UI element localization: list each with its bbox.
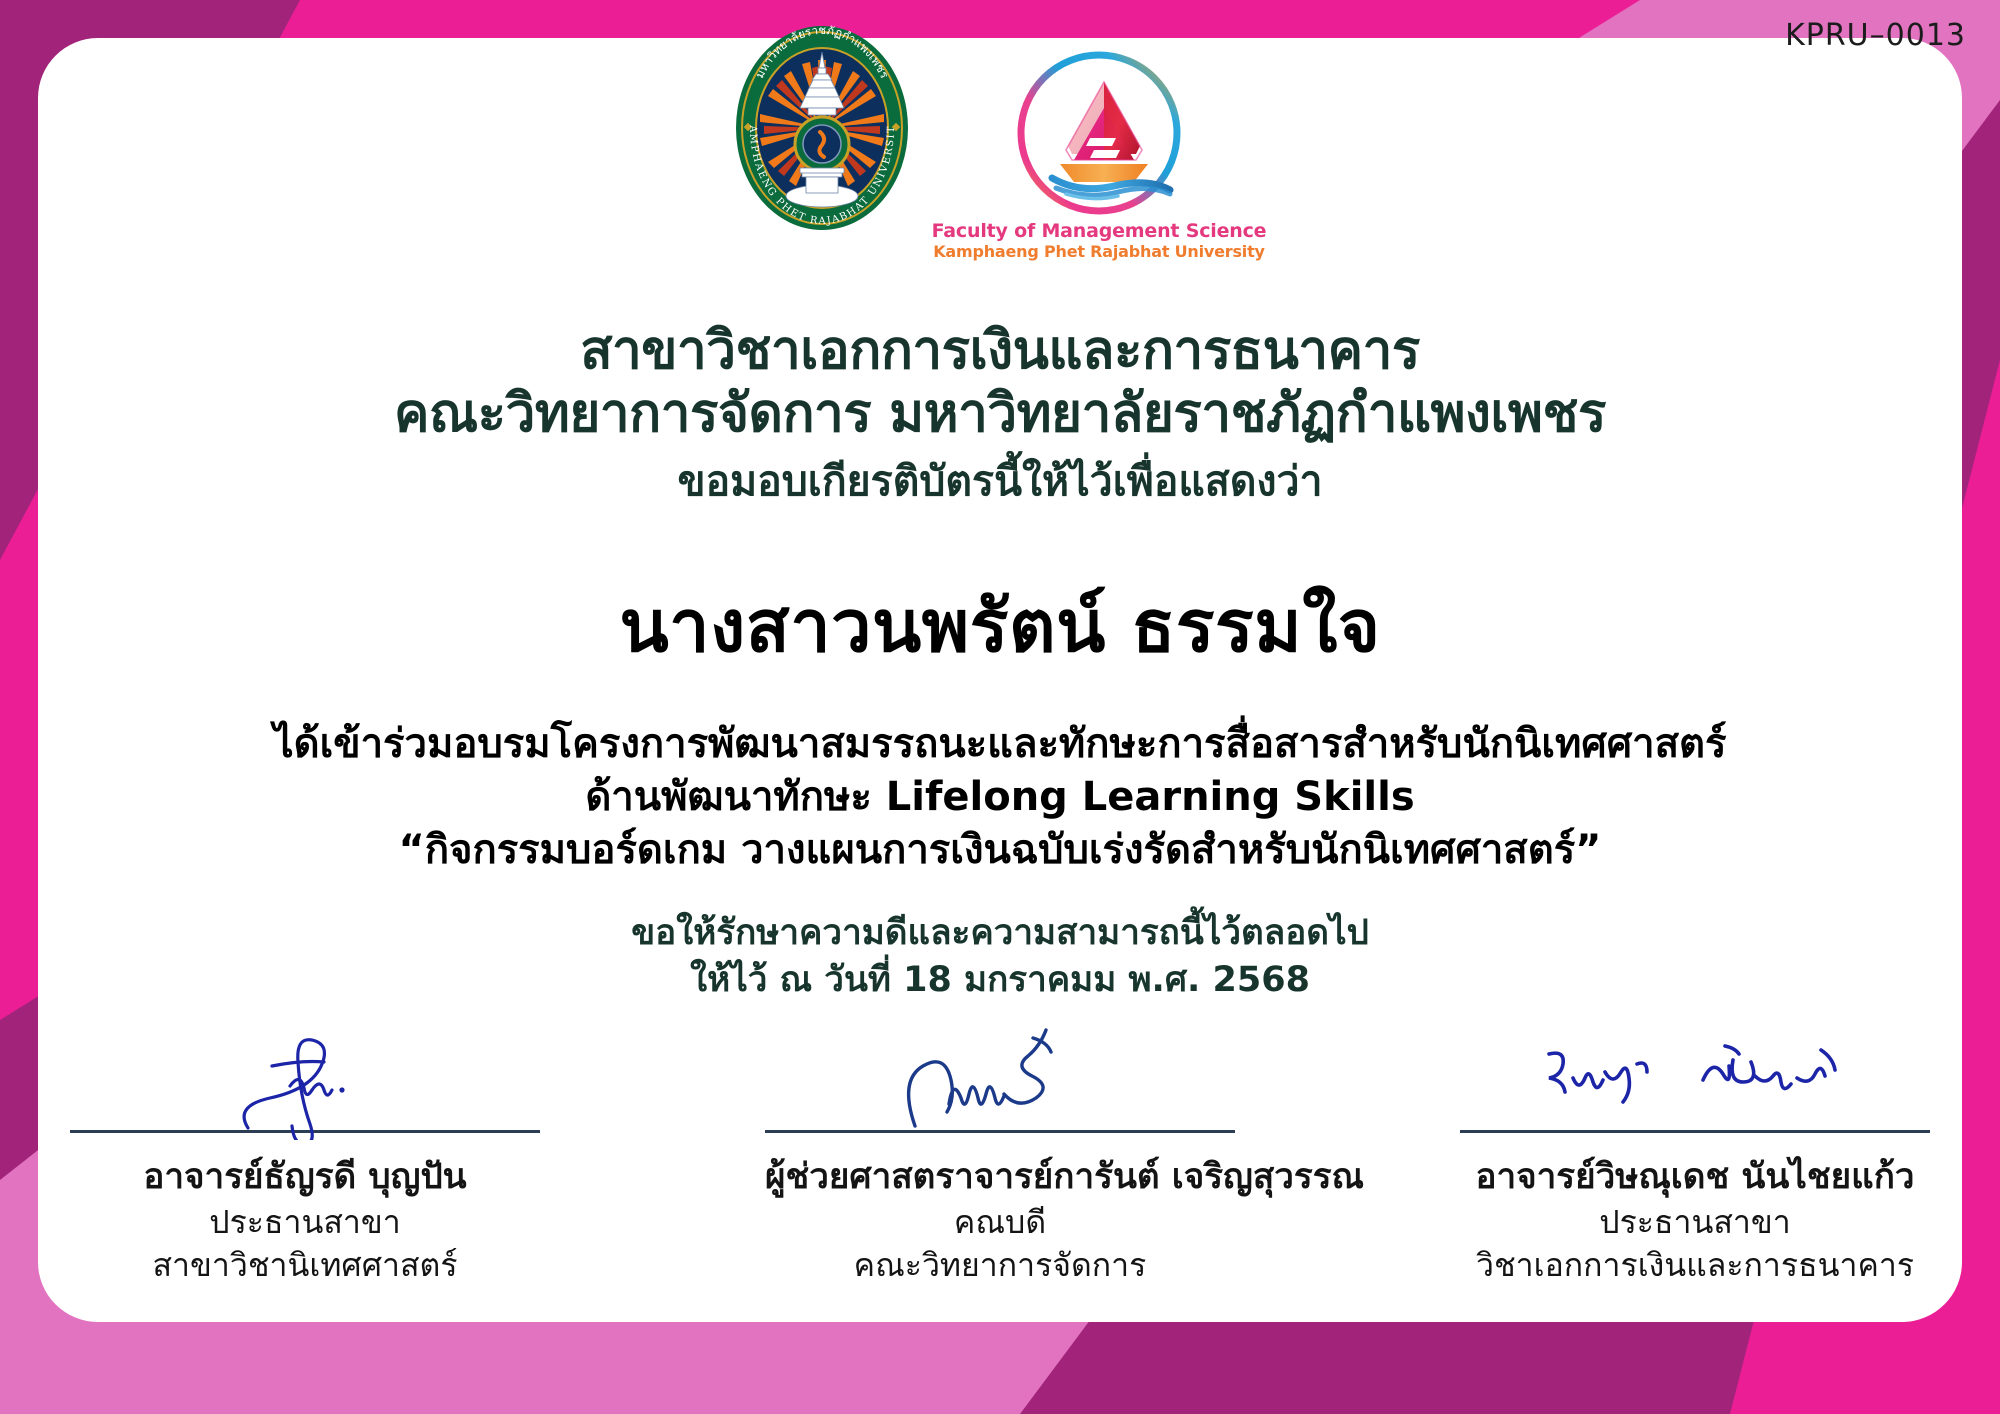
kpru-university-seal-icon: มหาวิทยาลัยราชภัฏกำแพงเพชร KAMPHAENG PHE… — [734, 24, 910, 232]
heading-award-intro: ขอมอบเกียรติบัตรนี้ให้ไว้เพื่อแสดงว่า — [0, 453, 2000, 510]
signature-block-1: อาจารย์ธัญรดี บุญปัน ประธานสาขา สาขาวิชา… — [70, 1020, 540, 1287]
certificate-id: KPRU–0013 — [1785, 18, 1966, 53]
faculty-logo-group: Faculty of Management Science Kamphaeng … — [932, 24, 1267, 261]
signer-role-1: ประธานสาขา — [70, 1201, 540, 1244]
certificate-canvas: KPRU–0013 — [0, 0, 2000, 1414]
signer-name-1: อาจารย์ธัญรดี บุญปัน — [70, 1155, 540, 1201]
signer-dept-1: สาขาวิชานิเทศศาสตร์ — [70, 1244, 540, 1287]
signer-dept-3: วิชาเอกการเงินและการธนาคาร — [1460, 1244, 1930, 1287]
body-line-2: ด้านพัฒนาทักษะ Lifelong Learning Skills — [0, 771, 2000, 824]
signature-block-2: ผู้ช่วยศาสตราจารย์การันต์ เจริญสุวรรณ คณ… — [765, 1020, 1235, 1287]
signer-name-3: อาจารย์วิษณุเดช นันไชยแก้ว — [1460, 1155, 1930, 1201]
signature-row: อาจารย์ธัญรดี บุญปัน ประธานสาขา สาขาวิชา… — [70, 1020, 1930, 1287]
closing-block: ขอให้รักษาความดีและความสามารถนี้ไว้ตลอดไ… — [0, 910, 2000, 1005]
body-line-1: ได้เข้าร่วมอบรมโครงการพัฒนาสมรรถนะและทัก… — [0, 718, 2000, 771]
handwritten-signature-icon — [875, 1020, 1125, 1140]
closing-wish: ขอให้รักษาความดีและความสามารถนี้ไว้ตลอดไ… — [0, 910, 2000, 957]
heading-faculty: คณะวิทยาการจัดการ มหาวิทยาลัยราชภัฏกำแพง… — [0, 383, 2000, 446]
signer-role-3: ประธานสาขา — [1460, 1201, 1930, 1244]
signature-ink-3 — [1460, 1020, 1930, 1130]
body-block: ได้เข้าร่วมอบรมโครงการพัฒนาสมรรถนะและทัก… — [0, 718, 2000, 878]
signer-role-2: คณบดี — [765, 1201, 1235, 1244]
signature-block-3: อาจารย์วิษณุเดช นันไชยแก้ว ประธานสาขา วิ… — [1460, 1020, 1930, 1287]
faculty-caption-english: Faculty of Management Science — [932, 220, 1267, 242]
issue-date: ให้ไว้ ณ วันที่ 18 มกราคมม พ.ศ. 2568 — [0, 957, 2000, 1004]
signer-name-2: ผู้ช่วยศาสตราจารย์การันต์ เจริญสุวรรณ — [765, 1155, 1235, 1201]
signature-ink-1 — [70, 1020, 540, 1130]
faculty-management-science-logo-icon — [1008, 42, 1190, 224]
heading-block: สาขาวิชาเอกการเงินและการธนาคาร คณะวิทยาก… — [0, 320, 2000, 510]
signer-dept-2: คณะวิทยาการจัดการ — [765, 1244, 1235, 1287]
recipient-name: นางสาวนพรัตน์ ธรรมใจ — [0, 568, 2000, 683]
handwritten-signature-icon — [1525, 1020, 1865, 1140]
heading-major: สาขาวิชาเอกการเงินและการธนาคาร — [0, 320, 2000, 383]
handwritten-signature-icon — [190, 1020, 420, 1140]
faculty-caption-university: Kamphaeng Phet Rajabhat University — [933, 242, 1265, 261]
body-line-3: “กิจกรรมบอร์ดเกม วางแผนการเงินฉบับเร่งรั… — [0, 824, 2000, 877]
logo-row: มหาวิทยาลัยราชภัฏกำแพงเพชร KAMPHAENG PHE… — [0, 24, 2000, 261]
signature-ink-2 — [765, 1020, 1235, 1130]
